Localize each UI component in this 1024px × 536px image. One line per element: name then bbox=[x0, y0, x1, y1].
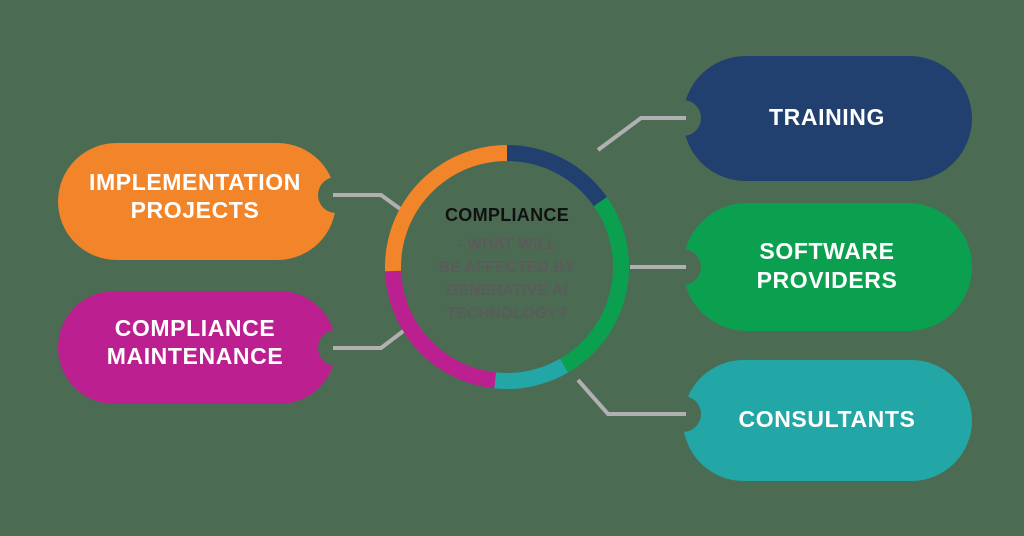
pill-software-providers-label-line-2: PROVIDERS bbox=[757, 267, 898, 293]
pill-implementation-projects-label-line-2: PROJECTS bbox=[131, 197, 260, 223]
pill-compliance-maintenance[interactable]: COMPLIANCE MAINTENANCE bbox=[58, 291, 336, 404]
pill-consultants[interactable]: CONSULTANTS bbox=[683, 360, 972, 481]
pill-software-providers-label-line-1: SOFTWARE bbox=[759, 238, 894, 264]
center-text-block: COMPLIANCE - WHAT WILL BE AFFECTED BY GE… bbox=[439, 205, 576, 322]
center-title: COMPLIANCE bbox=[445, 205, 569, 225]
center-subtitle-line-1: - WHAT WILL bbox=[457, 236, 556, 253]
pill-training[interactable]: TRAINING bbox=[683, 56, 972, 181]
pill-implementation-projects[interactable]: IMPLEMENTATION PROJECTS bbox=[58, 143, 336, 260]
mindmap-diagram: COMPLIANCE - WHAT WILL BE AFFECTED BY GE… bbox=[0, 0, 1024, 536]
pill-compliance-maintenance-label-line-2: MAINTENANCE bbox=[107, 343, 284, 369]
pill-software-providers[interactable]: SOFTWARE PROVIDERS bbox=[683, 203, 972, 331]
pill-implementation-projects-label-line-1: IMPLEMENTATION bbox=[89, 169, 301, 195]
center-subtitle-line-2: BE AFFECTED BY bbox=[439, 259, 576, 276]
center-subtitle-line-3: GENERATIVE AI bbox=[446, 282, 567, 299]
center-subtitle-line-4: TECHNOLOGY? bbox=[446, 305, 567, 322]
pill-compliance-maintenance-label-line-1: COMPLIANCE bbox=[115, 315, 276, 341]
pill-consultants-label-line-1: CONSULTANTS bbox=[739, 406, 916, 432]
pill-training-label-line-1: TRAINING bbox=[769, 104, 885, 130]
